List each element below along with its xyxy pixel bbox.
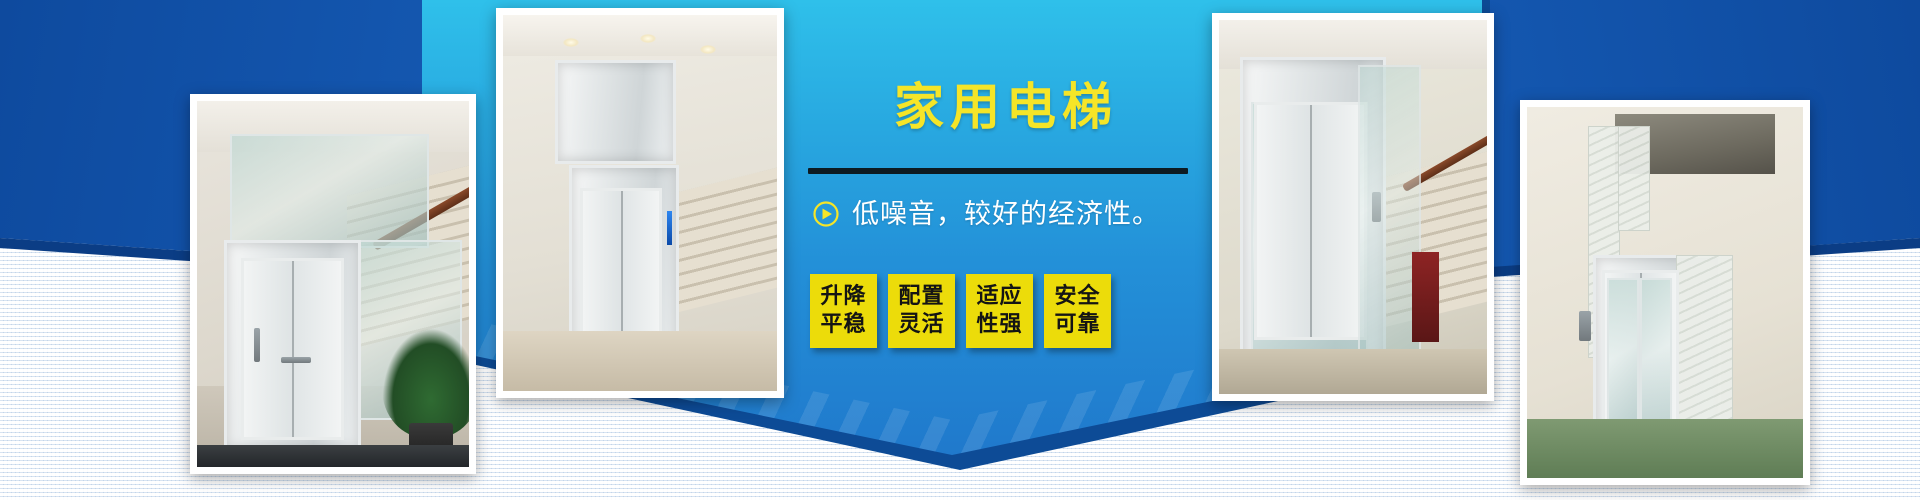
feature-tag-line2: 灵活: [898, 311, 944, 339]
page-title: 家用电梯: [806, 82, 1206, 132]
feature-tag[interactable]: 安全 可靠: [1044, 274, 1111, 348]
feature-tag-list: 升降 平稳 配置 灵活 适应 性强 安全 可靠: [810, 274, 1206, 348]
photo-home-elevator-glass-shaft-with-plant: [190, 94, 476, 474]
feature-tag-line2: 可靠: [1054, 311, 1100, 339]
feature-tag-line1: 适应: [976, 283, 1022, 311]
feature-tag-line2: 性强: [976, 311, 1022, 339]
feature-tag-line1: 安全: [1054, 283, 1100, 311]
feature-tag-line1: 升降: [820, 283, 866, 311]
feature-tag[interactable]: 配置 灵活: [888, 274, 955, 348]
feature-tag-line1: 配置: [898, 283, 944, 311]
circled-play-arrow-icon: [812, 200, 840, 228]
home-elevator-banner: 家用电梯 低噪音，较好的经济性。 升降 平稳 配置 灵活 适应 性强: [0, 0, 1920, 500]
photo-home-elevator-stainless-glass-beside-stairs: [1212, 13, 1494, 401]
title-divider: [808, 168, 1188, 174]
subtitle-text: 低噪音，较好的经济性。: [852, 201, 1160, 228]
subtitle-row: 低噪音，较好的经济性。: [806, 200, 1206, 228]
feature-tag-line2: 平稳: [820, 311, 866, 339]
feature-tag[interactable]: 适应 性强: [966, 274, 1033, 348]
feature-tag[interactable]: 升降 平稳: [810, 274, 877, 348]
photo-home-elevator-installation-unfinished-room: [1520, 100, 1810, 485]
text-content-column: 家用电梯 低噪音，较好的经济性。 升降 平稳 配置 灵活 适应 性强: [806, 0, 1206, 455]
photo-home-elevator-two-story-hall-staircase: [496, 8, 784, 398]
